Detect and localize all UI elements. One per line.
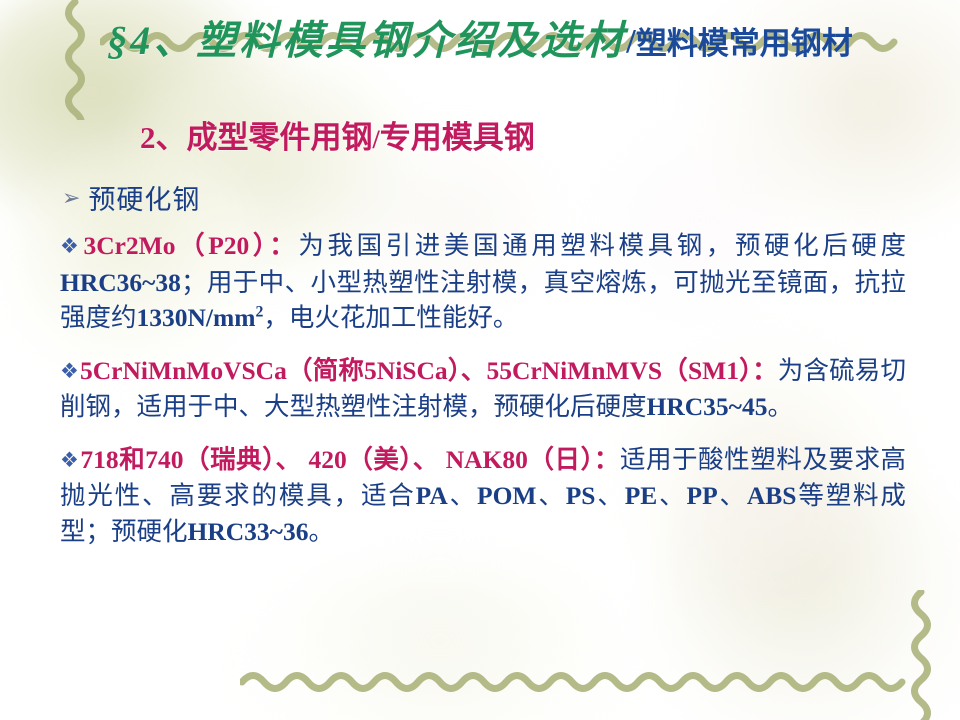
plastic-separator: 、 [595,481,624,510]
paragraph-hardness-value: HRC36~38 [60,268,181,297]
title-separator: / [626,23,635,60]
paragraph-heading: 3Cr2Mo（P20）： [83,231,298,260]
paragraph-text-tail: 。 [308,517,334,546]
paragraph-text-tail: ，电火花加工性能好。 [263,303,518,332]
plastic-type-abs: ABS [747,481,797,510]
plastic-separator: 、 [718,481,747,510]
arrow-bullet-icon: ➢ [62,187,80,209]
diamond-bullet-icon: ❖ [60,448,79,472]
bg-blotch [230,560,650,720]
paragraph-text-lead: 为我国引进美国通用塑料模具钢，预硬化后硬度 [298,231,906,260]
paragraph-heading: 718和740（瑞典）、 420（美）、 NAK80（日）： [80,445,620,474]
plastic-separator: 、 [536,481,565,510]
level1-bullet-row: ➢ 预硬化钢 [62,178,200,217]
subtitle-tail: 专用模具钢 [380,120,535,155]
paragraph-text-tail: 。 [767,392,793,421]
title-blue-part: 塑料模常用钢材 [636,26,853,61]
level1-bullet-label: 预硬化钢 [88,178,200,217]
plastic-type-pp: PP [687,481,718,510]
body-content: ❖3Cr2Mo（P20）：为我国引进美国通用塑料模具钢，预硬化后硬度HRC36~… [60,228,906,566]
plastic-type-ps: PS [566,481,596,510]
vine-border-right-icon [908,590,934,720]
plastic-type-pa: PA [416,481,448,510]
plastic-type-pe: PE [625,481,658,510]
subtitle-separator: / [373,125,380,154]
plastic-separator: 、 [657,481,686,510]
plastic-type-pom: POM [477,481,536,510]
paragraph-5crnimnmovsca: ❖5CrNiMnMoVSCa（简称5NiSCa）、55CrNiMnMVS（SM1… [60,353,906,425]
diamond-bullet-icon: ❖ [60,359,79,383]
paragraph-3cr2mo: ❖3Cr2Mo（P20）：为我国引进美国通用塑料模具钢，预硬化后硬度HRC36~… [60,228,906,336]
paragraph-hardness-value: HRC35~45 [647,392,768,421]
slide-title: §4、塑料模具钢介绍及选材/塑料模常用钢材 [0,8,960,66]
slide-canvas: §4、塑料模具钢介绍及选材/塑料模常用钢材 2、成型零件用钢/专用模具钢 ➢ 预… [0,0,960,720]
paragraph-718-740-420-nak80: ❖718和740（瑞典）、 420（美）、 NAK80（日）：适用于酸性塑料及要… [60,442,906,550]
title-script-part: §4、塑料模具钢介绍及选材 [107,18,626,63]
subtitle-main: 2、成型零件用钢 [140,120,373,155]
paragraph-heading: 5CrNiMnMoVSCa（简称5NiSCa）、55CrNiMnMVS（SM1）… [80,356,778,385]
vine-border-bottom-icon [240,666,930,692]
paragraph-strength-value: 1330N/mm [137,303,256,332]
diamond-bullet-icon: ❖ [60,234,82,258]
paragraph-hardness-value: HRC33~36 [188,517,309,546]
plastic-separator: 、 [448,481,477,510]
slide-subtitle: 2、成型零件用钢/专用模具钢 [140,112,535,157]
